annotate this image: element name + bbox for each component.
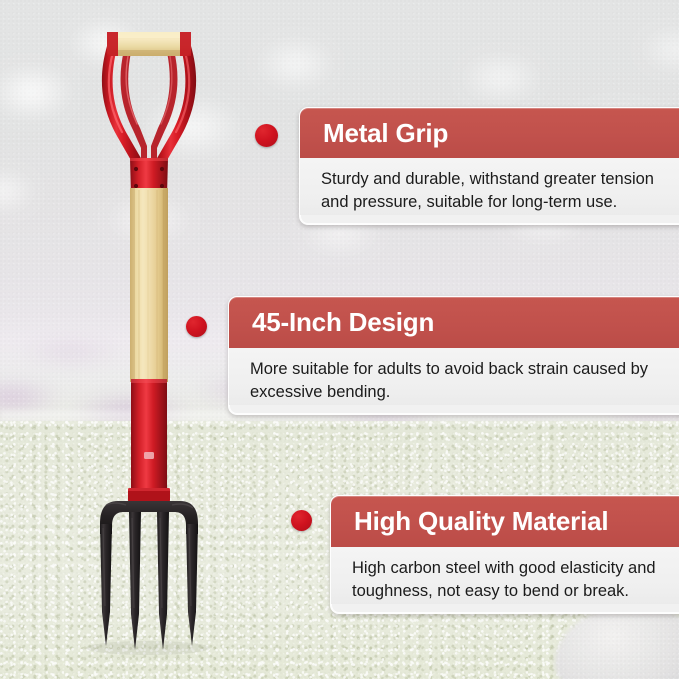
card-body-metal-grip: Sturdy and durable, withstand greater te… [300,158,679,215]
card-title-metal-grip: Metal Grip [323,118,448,149]
card-header-metal-grip: Metal Grip [300,108,679,158]
card-body-45-inch-design: More suitable for adults to avoid back s… [229,348,679,405]
card-header-45-inch-design: 45-Inch Design [229,297,679,348]
bullet-dot-metal-grip [255,124,278,147]
card-title-high-quality-material: High Quality Material [354,506,608,537]
bullet-dot-45-inch [186,316,207,337]
card-title-45-inch-design: 45-Inch Design [252,307,434,338]
card-body-high-quality-material: High carbon steel with good elasticity a… [331,547,679,604]
callout-card-metal-grip: Metal Grip Sturdy and durable, withstand… [299,107,679,225]
bullet-dot-high-quality [291,510,312,531]
product-infographic: Metal Grip Sturdy and durable, withstand… [0,0,679,679]
card-header-high-quality-material: High Quality Material [331,496,679,547]
callout-card-high-quality-material: High Quality Material High carbon steel … [330,495,679,614]
callout-card-45-inch-design: 45-Inch Design More suitable for adults … [228,296,679,415]
